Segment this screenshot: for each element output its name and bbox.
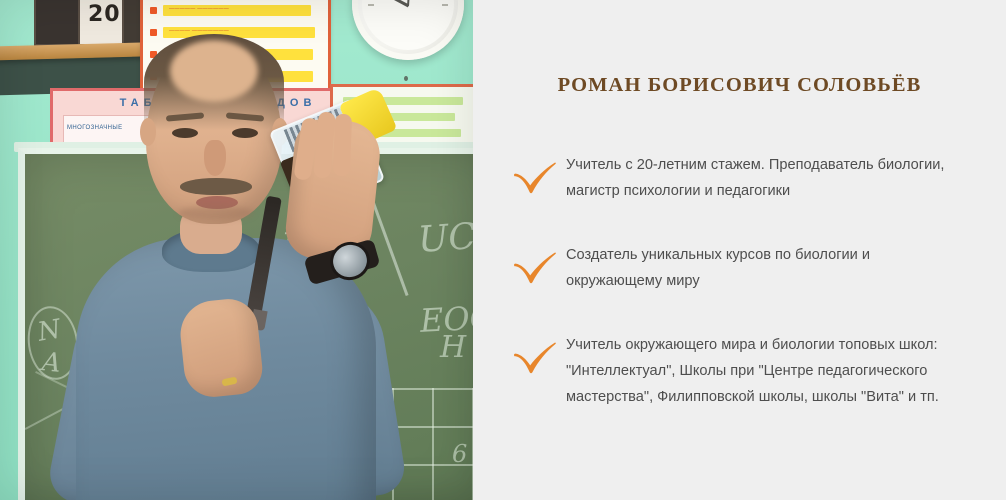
slide-root: 20 ————— —————— ———— ——————— ТАБЛИЦА РАЗ… <box>0 0 1006 500</box>
photo-inner: 20 ————— —————— ———— ——————— ТАБЛИЦА РАЗ… <box>0 0 473 500</box>
list-item-text: Учитель окружающего мира и биологии топо… <box>566 332 966 410</box>
info-panel: РОМАН БОРИСОВИЧ СОЛОВЬЁВ Учитель с 20-ле… <box>473 0 1006 500</box>
teacher-mustache <box>180 178 252 195</box>
teacher-nose <box>204 140 226 176</box>
page-title: РОМАН БОРИСОВИЧ СОЛОВЬЁВ <box>473 74 1006 97</box>
list-item-text: Создатель уникальных курсов по биологии … <box>566 242 958 294</box>
teacher-eye-right <box>232 128 258 138</box>
teacher-finger <box>333 114 352 177</box>
list-item: Создатель уникальных курсов по биологии … <box>504 242 992 294</box>
bullet-list: Учитель с 20-летним стажем. Преподавател… <box>504 152 992 410</box>
teacher-eye-left <box>172 128 198 138</box>
teacher-chin-shadow <box>178 206 254 220</box>
teacher-hand-left <box>177 296 265 400</box>
list-item: Учитель с 20-летним стажем. Преподавател… <box>504 152 992 204</box>
teacher-figure <box>0 0 473 500</box>
check-icon <box>504 332 566 378</box>
teacher-forehead <box>170 40 258 102</box>
check-icon <box>504 242 566 288</box>
check-icon <box>504 152 566 198</box>
teacher-photo: 20 ————— —————— ———— ——————— ТАБЛИЦА РАЗ… <box>0 0 473 500</box>
teacher-ear-left <box>140 118 156 146</box>
list-item-text: Учитель с 20-летним стажем. Преподавател… <box>566 152 958 204</box>
list-item: Учитель окружающего мира и биологии топо… <box>504 332 992 410</box>
